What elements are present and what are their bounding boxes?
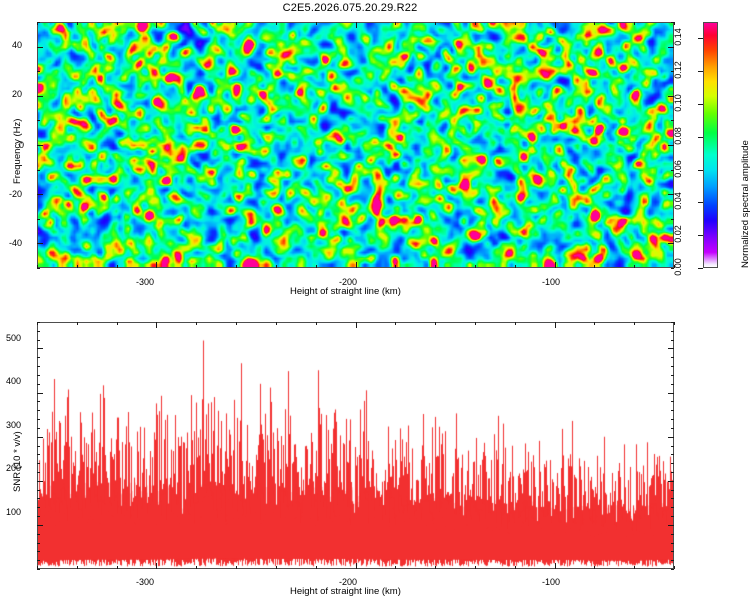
snr-ytick-left	[37, 472, 40, 473]
spectrogram-xtick-top	[555, 22, 556, 28]
snr-xtick-top	[594, 322, 595, 325]
snr-ytick-left	[37, 569, 40, 570]
snr-xtick-top	[156, 322, 157, 328]
spectrogram-xtick-top	[594, 22, 595, 25]
snr-xtick-bottom	[395, 566, 396, 569]
snr-ytick-left	[37, 490, 40, 491]
snr-xtick-top	[634, 322, 635, 325]
snr-ytick-left	[37, 322, 40, 323]
snr-xtick-bottom	[594, 566, 595, 569]
snr-xtick-bottom	[276, 566, 277, 569]
snr-xtick-top	[276, 322, 277, 325]
colorbar-tickmark	[698, 137, 703, 138]
spectrogram-xtick-bottom	[356, 262, 357, 268]
spectrogram-xtick-m100: -100	[542, 277, 560, 287]
colorbar-tickmark	[698, 104, 703, 105]
spectrogram-xtick-top	[395, 22, 396, 25]
snr-ytick-right	[671, 569, 674, 570]
snr-xtick-bottom	[196, 566, 197, 569]
snr-ytick-right	[671, 498, 674, 499]
snr-ytick-right	[671, 534, 674, 535]
spectrogram-ytick-left	[37, 22, 40, 23]
spectrogram-xtick-top	[316, 22, 317, 25]
snr-ytick-right	[671, 454, 674, 455]
colorbar-tick-label: 0.12	[673, 53, 683, 87]
snr-xtick-bottom	[555, 563, 556, 569]
spectrogram-xtick-top	[236, 22, 237, 25]
colorbar-tick-label: 0.08	[673, 119, 683, 153]
snr-ytick-left	[37, 366, 40, 367]
snr-ytick-left	[37, 454, 40, 455]
snr-xtick-bottom	[435, 566, 436, 569]
snr-ytick-right	[671, 419, 674, 420]
spectrogram-ytick-left	[37, 219, 40, 220]
colorbar-tick-label: 0.10	[673, 86, 683, 120]
spectrogram-xtick-bottom	[156, 262, 157, 268]
snr-ytick-left	[37, 560, 40, 561]
snr-ytick-100: 100	[6, 507, 21, 517]
snr-ytick-right	[671, 322, 674, 323]
spectrogram-xtick-bottom	[555, 262, 556, 268]
colorbar-tickmark	[698, 202, 703, 203]
snr-xtick-top	[356, 322, 357, 328]
snr-ytick-left	[37, 357, 40, 358]
spectrogram-xtick-top	[196, 22, 197, 25]
spectrogram-xtick-bottom	[435, 265, 436, 268]
snr-xtick-bottom	[236, 566, 237, 569]
snr-ytick-right	[671, 375, 674, 376]
snr-ytick-left	[37, 551, 40, 552]
snr-xtick-top	[316, 322, 317, 325]
spectrogram-ytick-left	[37, 145, 43, 146]
snr-xtick-top	[196, 322, 197, 325]
snr-xtick-bottom	[117, 566, 118, 569]
colorbar-tickmark	[698, 235, 703, 236]
snr-ytick-left	[37, 348, 43, 349]
spectrogram-panel	[37, 22, 674, 268]
spectrogram-xaxis-label: Height of straight line (km)	[290, 286, 401, 297]
snr-xtick-top	[515, 322, 516, 325]
colorbar-tick-label: 0.04	[673, 184, 683, 218]
snr-ytick-right	[671, 340, 674, 341]
spectrogram-xtick-bottom	[236, 265, 237, 268]
snr-trace	[38, 323, 673, 568]
snr-panel	[37, 322, 674, 569]
snr-xtick-m300: -300	[136, 577, 154, 587]
snr-xtick-bottom	[356, 563, 357, 569]
spectrogram-ytick-left	[37, 120, 40, 121]
spectrogram-xtick-bottom	[395, 265, 396, 268]
spectrogram-ytick-m40: -40	[9, 238, 22, 248]
colorbar-axis-label: Normalized spectral amplitude	[740, 140, 750, 268]
spectrogram-xtick-bottom	[634, 265, 635, 268]
snr-ytick-300: 300	[6, 420, 21, 430]
snr-ytick-left	[37, 419, 40, 420]
spectrogram-ytick-left	[37, 268, 40, 269]
spectrogram-ytick-left	[37, 194, 43, 195]
snr-ytick-left	[37, 507, 40, 508]
snr-ytick-left	[37, 437, 43, 438]
spectrogram-xtick-bottom	[515, 265, 516, 268]
snr-ytick-left	[37, 481, 43, 482]
snr-ytick-right	[671, 366, 674, 367]
spectrogram-xtick-top	[77, 22, 78, 25]
colorbar-tick-label: 0.02	[673, 217, 683, 251]
spectrogram-xtick-top	[117, 22, 118, 25]
spectrogram-xtick-bottom	[77, 265, 78, 268]
spectrogram-xtick-top	[634, 22, 635, 25]
snr-xtick-m100: -100	[542, 577, 560, 587]
spectrogram-xtick-top	[276, 22, 277, 25]
colorbar-tickmark	[698, 268, 703, 269]
snr-xtick-bottom	[634, 566, 635, 569]
snr-ytick-right	[671, 401, 674, 402]
snr-ytick-right	[668, 393, 674, 394]
spectrogram-ytick-left	[37, 170, 40, 171]
snr-ytick-left	[37, 410, 40, 411]
colorbar-gradient	[704, 23, 717, 267]
snr-xaxis-label: Height of straight line (km)	[290, 586, 401, 597]
snr-ytick-right	[671, 472, 674, 473]
colorbar-tick-label: 0.06	[673, 152, 683, 186]
snr-ytick-right	[671, 463, 674, 464]
snr-ytick-left	[37, 498, 40, 499]
page-title: C2E5.2026.075.20.29.R22	[0, 2, 700, 14]
snr-ytick-left	[37, 534, 40, 535]
colorbar	[703, 22, 718, 268]
snr-ytick-400: 400	[6, 376, 21, 386]
snr-ytick-left	[37, 340, 40, 341]
spectrogram-xtick-top	[475, 22, 476, 25]
snr-ytick-left	[37, 463, 40, 464]
snr-ytick-right	[668, 348, 674, 349]
snr-ytick-left	[37, 384, 40, 385]
snr-xtick-top	[395, 322, 396, 325]
snr-xtick-bottom	[77, 566, 78, 569]
spectrogram-xtick-top	[515, 22, 516, 25]
snr-xtick-bottom	[475, 566, 476, 569]
snr-ytick-left	[37, 446, 40, 447]
snr-ytick-right	[671, 428, 674, 429]
snr-ytick-right	[671, 384, 674, 385]
snr-xtick-bottom	[674, 566, 675, 569]
spectrogram-xtick-bottom	[594, 265, 595, 268]
spectrogram-image	[38, 23, 673, 267]
colorbar-tick-label: 0.00	[673, 250, 683, 284]
spectrogram-ytick-20: 20	[12, 89, 22, 99]
spectrogram-xtick-m300: -300	[136, 277, 154, 287]
snr-ytick-left	[37, 375, 40, 376]
spectrogram-xtick-bottom	[316, 265, 317, 268]
snr-ytick-right	[671, 543, 674, 544]
snr-ytick-left	[37, 401, 40, 402]
snr-ytick-right	[671, 331, 674, 332]
snr-xtick-bottom	[515, 566, 516, 569]
spectrogram-xtick-top	[356, 22, 357, 28]
snr-ytick-left	[37, 516, 40, 517]
colorbar-tickmark	[698, 38, 703, 39]
snr-xtick-top	[674, 322, 675, 325]
snr-xtick-top	[236, 322, 237, 325]
spectrogram-xtick-bottom	[276, 265, 277, 268]
spectrogram-xtick-bottom	[475, 265, 476, 268]
snr-yaxis-label: SNR (10 * v/v)	[12, 431, 23, 492]
spectrogram-xtick-top	[156, 22, 157, 28]
snr-ytick-right	[668, 481, 674, 482]
snr-ytick-right	[671, 507, 674, 508]
snr-ytick-left	[37, 393, 43, 394]
snr-ytick-right	[671, 560, 674, 561]
snr-xtick-top	[555, 322, 556, 328]
spectrogram-ytick-left	[37, 47, 43, 48]
figure-canvas: C2E5.2026.075.20.29.R22 40 20 0 -20 -40 …	[0, 0, 750, 600]
snr-ytick-right	[671, 446, 674, 447]
snr-xtick-top	[435, 322, 436, 325]
colorbar-tickmark	[698, 71, 703, 72]
colorbar-tickmark	[698, 170, 703, 171]
spectrogram-xtick-bottom	[196, 265, 197, 268]
snr-ytick-right	[668, 525, 674, 526]
snr-xtick-bottom	[156, 563, 157, 569]
spectrogram-ytick-left	[37, 243, 43, 244]
snr-ytick-left	[37, 525, 43, 526]
snr-xtick-top	[475, 322, 476, 325]
snr-ytick-left	[37, 331, 40, 332]
spectrogram-xtick-top	[435, 22, 436, 25]
snr-ytick-right	[671, 357, 674, 358]
spectrogram-ytick-left	[37, 71, 40, 72]
snr-ytick-right	[668, 437, 674, 438]
spectrogram-ytick-left	[37, 96, 43, 97]
snr-xtick-top	[77, 322, 78, 325]
snr-ytick-right	[671, 516, 674, 517]
colorbar-tick-label: 0.14	[673, 20, 683, 54]
snr-ytick-right	[671, 410, 674, 411]
snr-xtick-top	[117, 322, 118, 325]
snr-ytick-right	[671, 490, 674, 491]
spectrogram-yaxis-label: Frequency (Hz)	[12, 119, 23, 184]
snr-ytick-left	[37, 428, 40, 429]
snr-xtick-bottom	[316, 566, 317, 569]
snr-ytick-right	[671, 551, 674, 552]
spectrogram-ytick-m20: -20	[9, 189, 22, 199]
spectrogram-ytick-40: 40	[12, 40, 22, 50]
snr-ytick-500: 500	[6, 333, 21, 343]
snr-ytick-left	[37, 543, 40, 544]
spectrogram-xtick-bottom	[117, 265, 118, 268]
